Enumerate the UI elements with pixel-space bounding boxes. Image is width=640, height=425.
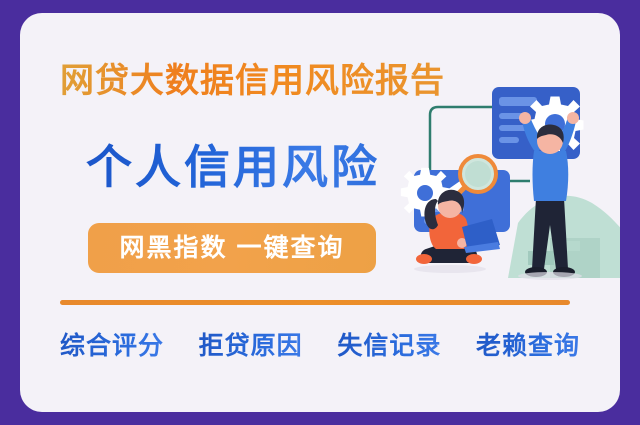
footer-link-debtor-query[interactable]: 老赖查询: [476, 326, 580, 362]
query-button[interactable]: 网黑指数 一键查询: [88, 223, 376, 273]
magnifier-icon: [456, 156, 496, 196]
floor-shadow: [414, 265, 486, 273]
floor-shadow: [518, 272, 582, 280]
page-subtitle: 个人信用风险: [86, 131, 380, 197]
poster-card: 网贷大数据信用风险报告 个人信用风险 网黑指数 一键查询 综合评分 拒贷原因 失…: [20, 13, 620, 412]
page-title: 网贷大数据信用风险报告: [60, 53, 445, 102]
footer-link-score[interactable]: 综合评分: [60, 326, 164, 362]
footer-link-default-record[interactable]: 失信记录: [337, 326, 441, 362]
footer-link-reject-reason[interactable]: 拒贷原因: [199, 326, 303, 362]
footer-links: 综合评分 拒贷原因 失信记录 老赖查询: [60, 326, 580, 362]
data-analysis-illustration: [400, 73, 620, 303]
promo-poster: 网贷大数据信用风险报告 个人信用风险 网黑指数 一键查询 综合评分 拒贷原因 失…: [0, 0, 640, 425]
